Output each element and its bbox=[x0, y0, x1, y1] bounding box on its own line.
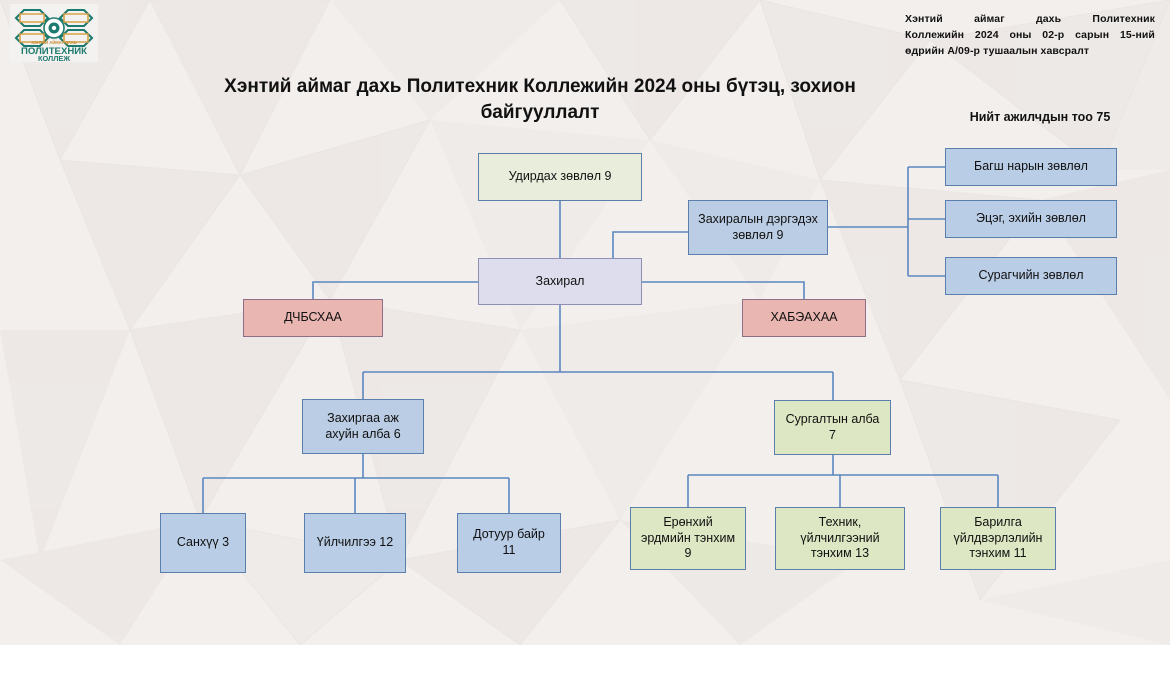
node-label: Удирдах зөвлөл 9 bbox=[509, 169, 612, 185]
node-bagsh-naryn-zuvlul[interactable]: Багш нарын зөвлөл bbox=[945, 148, 1117, 186]
node-zahiral[interactable]: Захирал bbox=[478, 258, 642, 305]
node-label: Захирал bbox=[536, 274, 585, 290]
node-label: Захиргаа ажахуйн алба 6 bbox=[325, 411, 400, 442]
node-label: ДЧБСХАА bbox=[284, 310, 342, 326]
node-suragchiin-zuvlul[interactable]: Сурагчийн зөвлөл bbox=[945, 257, 1117, 295]
node-label: Барилгаүйлдвэрлэлийнтэнхим 11 bbox=[954, 515, 1043, 562]
node-label: Санхүү 3 bbox=[177, 535, 229, 551]
node-udirdah-zuvlul[interactable]: Удирдах зөвлөл 9 bbox=[478, 153, 642, 201]
slide-canvas: ХЭНТИЙ АЙМАГ ДАХЬ ПОЛИТЕХНИК КОЛЛЕЖ Хэнт… bbox=[0, 0, 1170, 645]
node-zahiralyn-dergedeh-zuvlul[interactable]: Захиралын дэргэдэхзөвлөл 9 bbox=[688, 200, 828, 255]
node-uilchilgee[interactable]: Үйлчилгээ 12 bbox=[304, 513, 406, 573]
node-zahirgaa-azh-akhuin-alba[interactable]: Захиргаа ажахуйн алба 6 bbox=[302, 399, 424, 454]
node-erunhii-erdmiin-tenkhim[interactable]: Ерөнхийэрдмийн тэнхим9 bbox=[630, 507, 746, 570]
node-dchbsxaa[interactable]: ДЧБСХАА bbox=[243, 299, 383, 337]
edge-zahiral-xabzaaxaa bbox=[642, 282, 804, 299]
edge-zahiral-dergedeh bbox=[613, 232, 688, 258]
node-tekhnik-uilchilgeenii-tenkhim[interactable]: Техник,үйлчилгээнийтэнхим 13 bbox=[775, 507, 905, 570]
node-label: Сургалтын алба7 bbox=[786, 412, 880, 443]
node-label: Багш нарын зөвлөл bbox=[974, 159, 1088, 175]
node-etseg-ekhiin-zuvlul[interactable]: Эцэг, эхийн зөвлөл bbox=[945, 200, 1117, 238]
node-label: Техник,үйлчилгээнийтэнхим 13 bbox=[800, 515, 879, 562]
node-label: Эцэг, эхийн зөвлөл bbox=[976, 211, 1086, 227]
node-label: ХАБЭАХАА bbox=[770, 310, 837, 326]
node-label: Үйлчилгээ 12 bbox=[317, 535, 393, 551]
node-label: Дотуур байр11 bbox=[473, 527, 545, 558]
node-xabzaaxaa[interactable]: ХАБЭАХАА bbox=[742, 299, 866, 337]
node-label: Ерөнхийэрдмийн тэнхим9 bbox=[641, 515, 735, 562]
node-surgaltyn-alba[interactable]: Сургалтын алба7 bbox=[774, 400, 891, 455]
node-label: Захиралын дэргэдэхзөвлөл 9 bbox=[698, 212, 818, 243]
node-barilga-uildverleliin-tenkhim[interactable]: Барилгаүйлдвэрлэлийнтэнхим 11 bbox=[940, 507, 1056, 570]
edge-zahiral-dchbsxaa bbox=[313, 282, 478, 299]
node-label: Сурагчийн зөвлөл bbox=[978, 268, 1083, 284]
node-dotuur-bair[interactable]: Дотуур байр11 bbox=[457, 513, 561, 573]
node-sankhuu[interactable]: Санхүү 3 bbox=[160, 513, 246, 573]
